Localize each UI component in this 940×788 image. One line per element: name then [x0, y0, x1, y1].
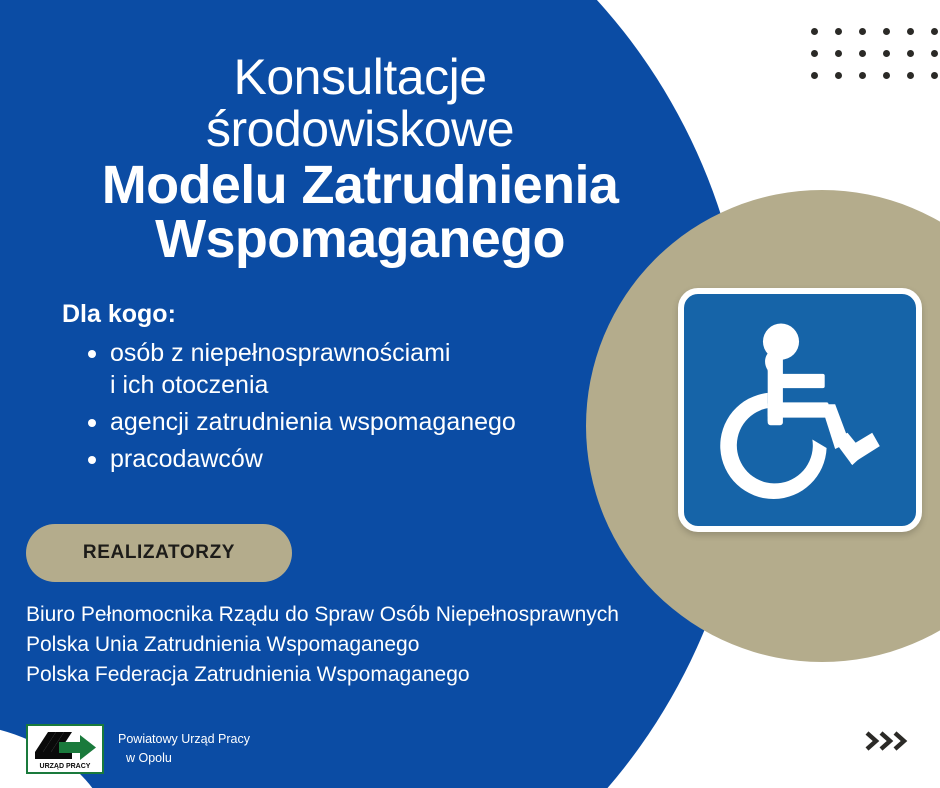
grid-dot	[931, 50, 938, 57]
title-line-2: środowiskowe	[0, 104, 720, 154]
list-item: agencji zatrudnienia wspomaganego	[62, 406, 632, 438]
grid-dot	[883, 50, 890, 57]
grid-dot	[883, 28, 890, 35]
list-item: osób z niepełnosprawnościami i ich otocz…	[62, 337, 632, 401]
list-item: pracodawców	[62, 443, 632, 475]
poster-canvas: Konsultacje środowiskowe Modelu Zatrudni…	[0, 0, 940, 788]
footer-org-name: Powiatowy Urząd Pracy w Opolu	[118, 730, 250, 768]
grid-dot	[811, 28, 818, 35]
partners-list: Biuro Pełnomocnika Rządu do Spraw Osób N…	[26, 600, 686, 690]
grid-dot	[835, 28, 842, 35]
grid-dot	[907, 50, 914, 57]
grid-dot	[931, 28, 938, 35]
title-line-3: Modelu Zatrudnienia	[0, 158, 720, 212]
footer: URZĄD PRACY Powiatowy Urząd Pracy w Opol…	[26, 724, 250, 774]
partner-row: Biuro Pełnomocnika Rządu do Spraw Osób N…	[26, 600, 686, 630]
grid-dot	[835, 50, 842, 57]
partner-row: Polska Federacja Zatrudnienia Wspomagane…	[26, 660, 686, 690]
grid-dot	[907, 72, 914, 79]
partner-row: Polska Unia Zatrudnienia Wspomaganego	[26, 630, 686, 660]
audience-section: Dla kogo: osób z niepełnosprawnościami i…	[62, 300, 632, 480]
grid-dot	[859, 72, 866, 79]
grid-dot	[931, 72, 938, 79]
grid-dot	[811, 72, 818, 79]
chevron-right-triple-icon	[864, 730, 910, 756]
audience-heading: Dla kogo:	[62, 300, 632, 329]
accessibility-sign	[678, 288, 922, 532]
audience-list: osób z niepełnosprawnościami i ich otocz…	[62, 337, 632, 475]
title-line-4: Wspomaganego	[0, 212, 720, 266]
urzad-pracy-logo-icon: URZĄD PRACY	[26, 724, 104, 774]
status-badge-realizatorzy: REALIZATORZY	[26, 524, 292, 582]
org-line-2: w Opolu	[118, 749, 250, 768]
grid-dot	[811, 50, 818, 57]
dot-grid-decoration	[811, 28, 940, 94]
grid-dot	[835, 72, 842, 79]
wheelchair-accessibility-icon	[705, 315, 895, 505]
org-line-1: Powiatowy Urząd Pracy	[118, 730, 250, 749]
grid-dot	[907, 28, 914, 35]
logo-caption: URZĄD PRACY	[40, 763, 91, 770]
grid-dot	[859, 50, 866, 57]
title-line-1: Konsultacje	[0, 52, 720, 102]
badge-label: REALIZATORZY	[83, 542, 235, 564]
grid-dot	[859, 28, 866, 35]
grid-dot	[883, 72, 890, 79]
page-title: Konsultacje środowiskowe Modelu Zatrudni…	[0, 52, 720, 266]
